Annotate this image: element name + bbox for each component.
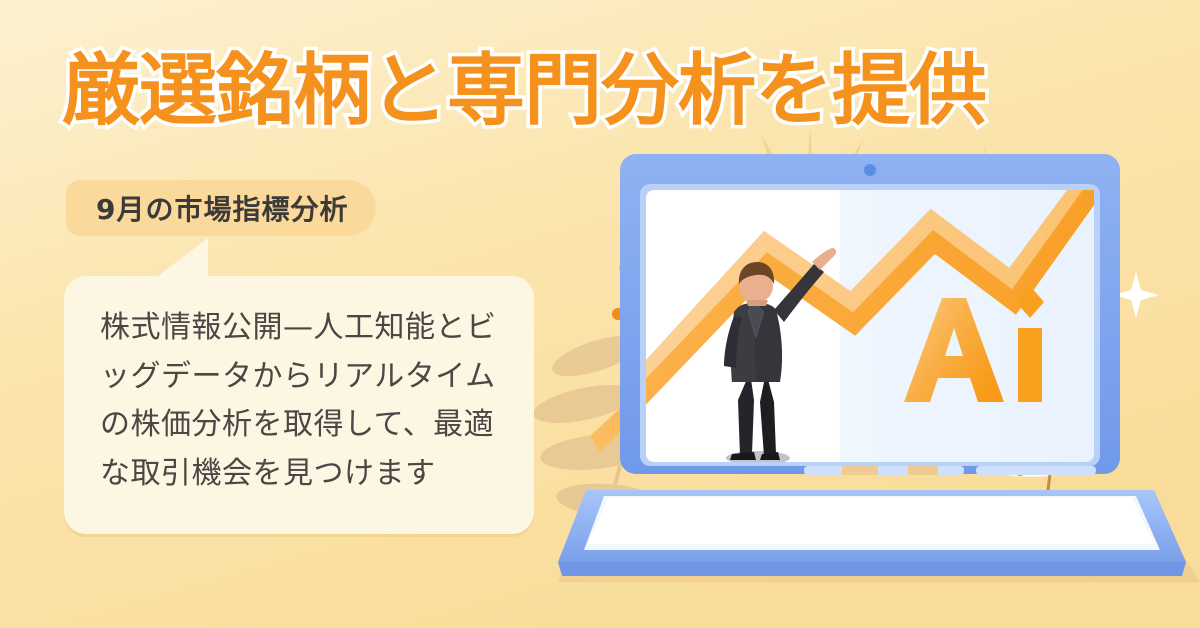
webcam-icon	[864, 164, 876, 176]
status-badge: 9月の市場指標分析	[66, 180, 376, 236]
promo-banner: 厳選銘柄と専門分析を提供 9月の市場指標分析 株式情報公開—人工知能とビッグデー…	[0, 0, 1200, 628]
badge-label: 9月の市場指標分析	[96, 188, 348, 228]
page-title: 厳選銘柄と専門分析を提供	[62, 52, 986, 130]
speech-bubble: 株式情報公開—人工知能とビッグデータからリアルタイムの株価分析を取得して、最適な…	[64, 276, 534, 534]
laptop-illustration	[556, 130, 1200, 628]
laptop-base	[558, 466, 1186, 576]
body-text: 株式情報公開—人工知能とビッグデータからリアルタイムの株価分析を取得して、最適な…	[100, 304, 506, 498]
